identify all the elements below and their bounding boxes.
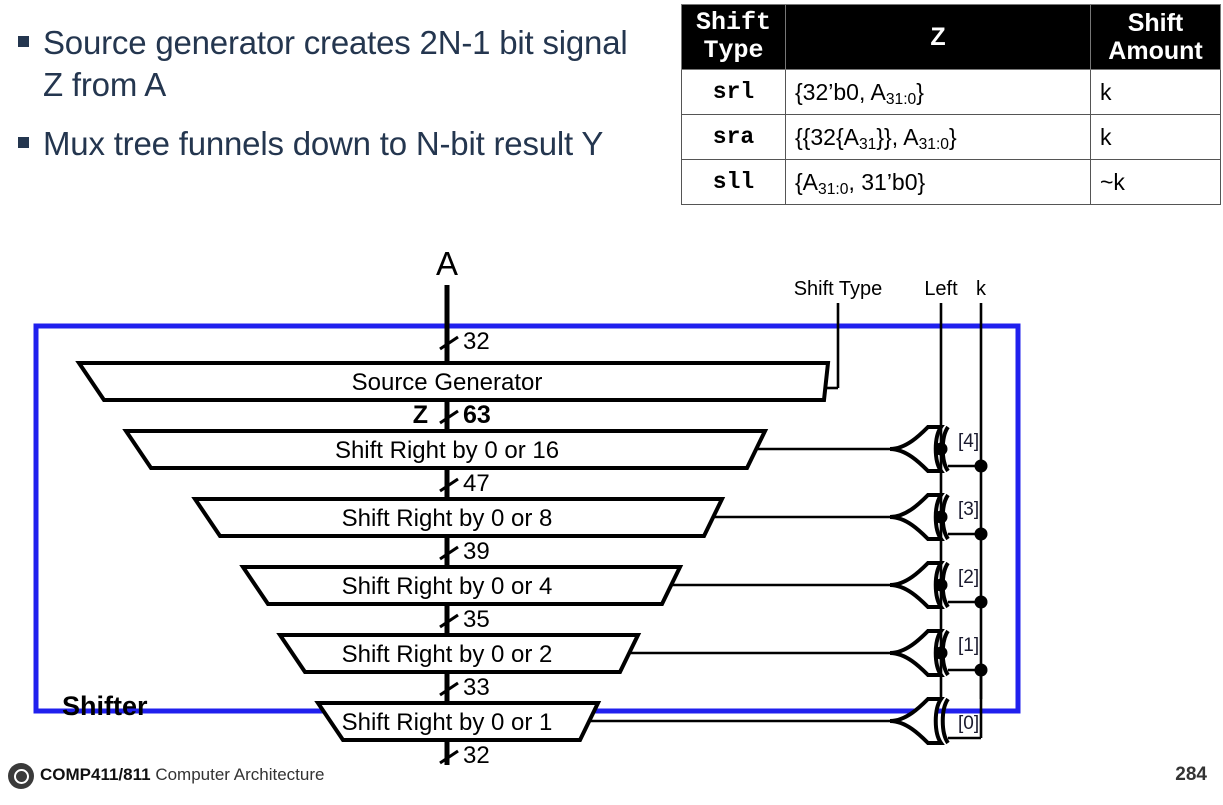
footer-course-text: COMP411/811 Computer Architecture	[40, 765, 324, 785]
cell-shift-type: sra	[682, 115, 786, 160]
select-bit-label-4: [4]	[958, 431, 979, 452]
table-header-row: Shift Type Z Shift Amount	[682, 5, 1221, 70]
select-bit-label-0: [0]	[958, 713, 979, 734]
select-bit-label-1: [1]	[958, 635, 979, 656]
mux-label-stage-2: Shift Right by 0 or 2	[342, 641, 553, 668]
table-row: sll {A31:0, 31’b0} ~k	[682, 160, 1221, 205]
university-seal-icon	[8, 763, 34, 789]
bullet-square-icon	[18, 36, 29, 47]
cell-shift-amount: ~k	[1091, 160, 1221, 205]
z-prefix: {A	[795, 169, 818, 195]
slide-footer: COMP411/811 Computer Architecture 284	[0, 761, 1223, 791]
footer-course-subject: Computer Architecture	[155, 765, 324, 784]
junction-k-4	[975, 460, 988, 473]
cell-shift-type: srl	[682, 70, 786, 115]
shift-type-table: Shift Type Z Shift Amount srl {32’b0, A3…	[681, 4, 1221, 205]
bullet-text: Mux tree funnels down to N-bit result Y	[43, 123, 603, 165]
cell-shift-type: sll	[682, 160, 786, 205]
bullet-text: Source generator creates 2N-1 bit signal…	[43, 22, 638, 105]
z-suffix: }	[916, 79, 924, 105]
intermediate-label-z: Z	[413, 401, 428, 429]
xor-gate-0	[890, 699, 948, 743]
z-subscript: 31:0	[818, 181, 848, 198]
bus-width-39: 39	[463, 538, 490, 565]
table-row: sra {{32{A31}}, A31:0} k	[682, 115, 1221, 160]
cell-z: {A31:0, 31’b0}	[786, 160, 1091, 205]
bullet-square-icon	[18, 137, 29, 148]
control-label-left: Left	[924, 278, 958, 300]
cell-z: {{32{A31}}, A31:0}	[786, 115, 1091, 160]
cell-z: {32’b0, A31:0}	[786, 70, 1091, 115]
bus-width-33: 33	[463, 674, 490, 701]
column-header-shift-type: Shift Type	[682, 5, 786, 70]
slide-root: Source generator creates 2N-1 bit signal…	[0, 0, 1223, 805]
junction-left-2	[935, 579, 948, 592]
shifter-block-diagram: A 32 Shift Type Left k Source Generator	[0, 245, 1223, 765]
mux-label-stage-4: Shift Right by 0 or 4	[342, 573, 553, 600]
select-bit-label-3: [3]	[958, 499, 979, 520]
bus-width-z: 63	[463, 401, 491, 429]
junction-k-2	[975, 596, 988, 609]
z-subscript-2: 31:0	[919, 136, 949, 153]
column-header-shift-amount: Shift Amount	[1091, 5, 1221, 70]
cell-shift-amount: k	[1091, 115, 1221, 160]
z-subscript: 31:0	[886, 91, 916, 108]
bus-width-35: 35	[463, 606, 490, 633]
bus-width-in: 32	[463, 328, 490, 355]
junction-k-3	[975, 528, 988, 541]
z-suffix: }	[949, 124, 957, 150]
mux-label-stage-16: Shift Right by 0 or 16	[335, 437, 559, 464]
z-suffix: , 31’b0}	[848, 169, 925, 195]
block-label-shifter: Shifter	[62, 691, 148, 721]
mux-label-stage-1: Shift Right by 0 or 1	[342, 709, 553, 736]
mux-label-stage-8: Shift Right by 0 or 8	[342, 505, 553, 532]
bus-width-47: 47	[463, 470, 490, 497]
control-label-k: k	[976, 278, 987, 300]
junction-left-4	[935, 443, 948, 456]
z-prefix: {32’b0, A	[795, 79, 886, 105]
table-row: srl {32’b0, A31:0} k	[682, 70, 1221, 115]
source-generator-label: Source Generator	[352, 369, 543, 396]
seal-inner-ring-icon	[14, 769, 29, 784]
bullet-list: Source generator creates 2N-1 bit signal…	[18, 22, 638, 183]
control-label-shift-type: Shift Type	[794, 278, 883, 300]
cell-shift-amount: k	[1091, 70, 1221, 115]
list-item: Source generator creates 2N-1 bit signal…	[18, 22, 638, 105]
junction-left-1	[935, 647, 948, 660]
footer-course-code: COMP411/811	[40, 765, 151, 784]
junction-left-3	[935, 511, 948, 524]
select-bit-label-2: [2]	[958, 567, 979, 588]
column-header-z: Z	[786, 5, 1091, 70]
z-prefix: {{32{A	[795, 124, 859, 150]
list-item: Mux tree funnels down to N-bit result Y	[18, 123, 638, 165]
z-mid: }}, A	[876, 124, 918, 150]
page-number: 284	[1175, 764, 1207, 786]
z-subscript: 31	[859, 136, 876, 153]
input-label-a: A	[436, 245, 458, 282]
